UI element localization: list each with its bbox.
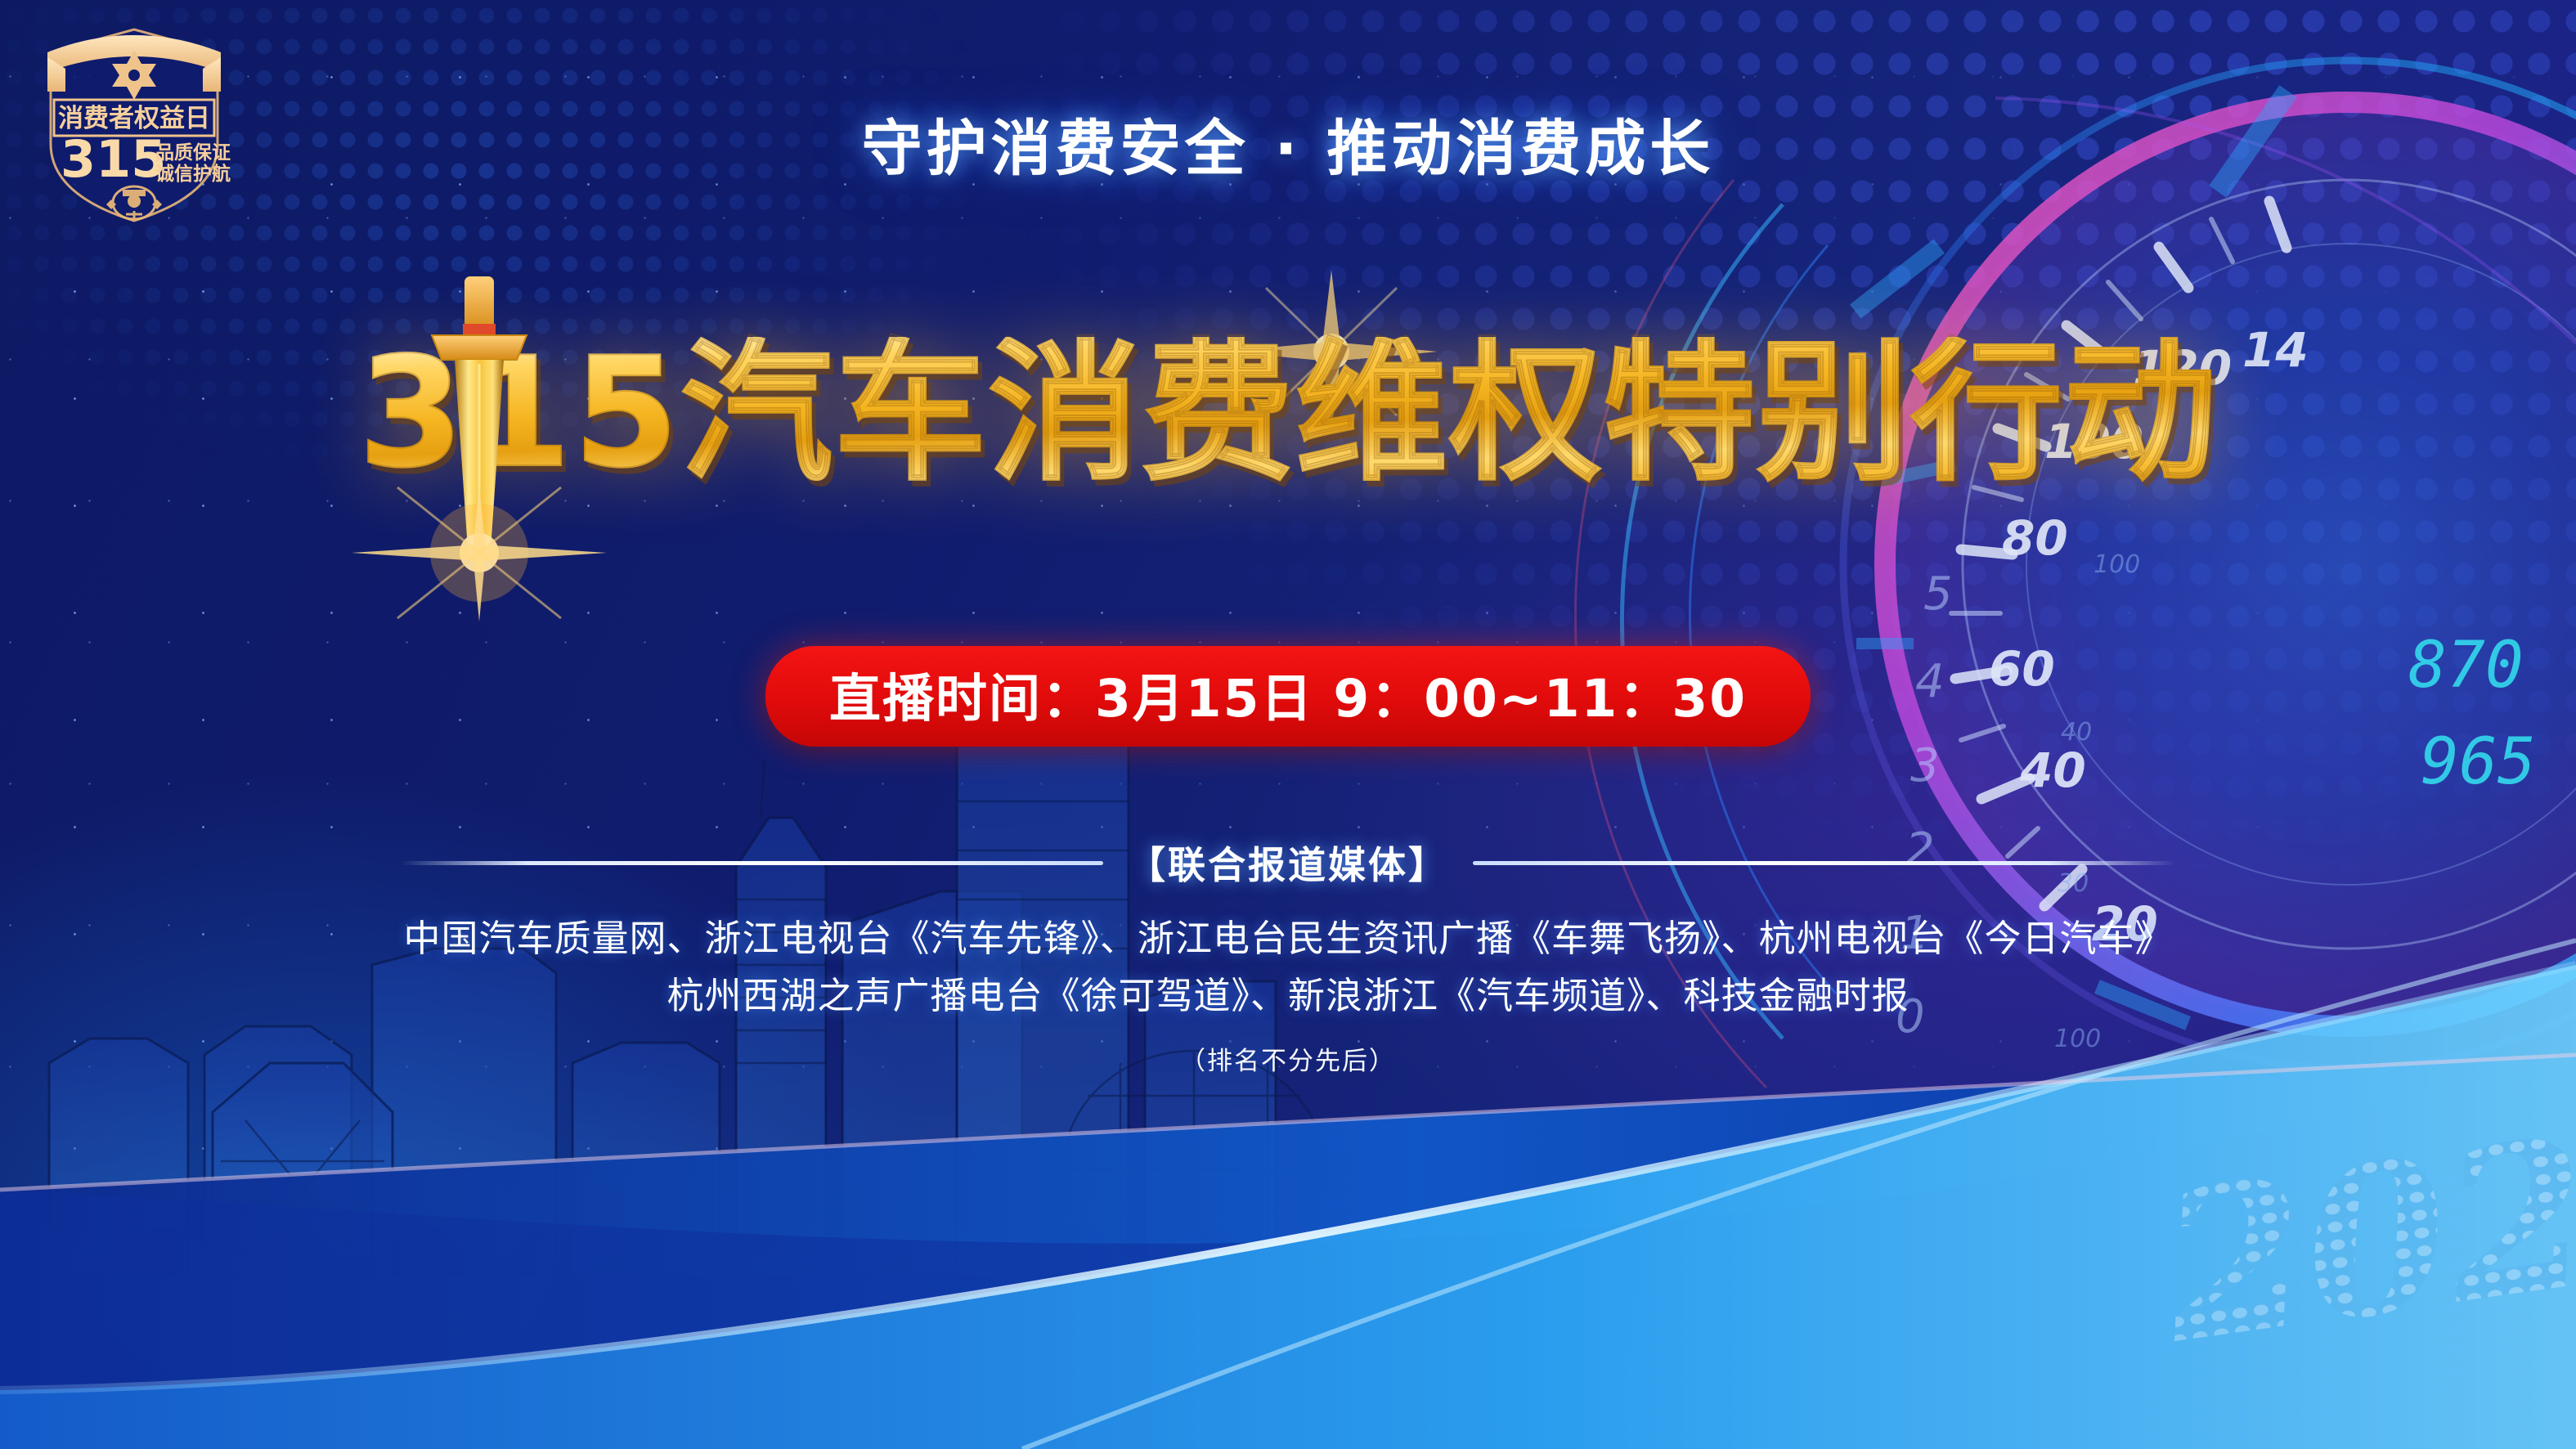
media-heading-row: 【联合报道媒体】	[0, 836, 2576, 890]
media-list-line-2: 杭州西湖之声广播电台《徐可驾道》、新浪浙江《汽车频道》、科技金融时报	[0, 970, 2576, 1022]
poster-subtitle: 守护消费安全 · 推动消费成长	[0, 100, 2576, 187]
live-time-text: 直播时间：3月15日 9：00~11：30	[829, 669, 1747, 729]
divider-left	[400, 861, 1103, 865]
media-partners-block: 【联合报道媒体】 中国汽车质量网、浙江电视台《汽车先锋》、浙江电台民生资讯广播《…	[0, 836, 2576, 1077]
divider-right	[1473, 861, 2176, 865]
page-title: 315汽车消费维权特别行动	[358, 337, 2218, 489]
poster-canvas: 20 40 60 80 100 120 14 870 965 5 4 3 2 1…	[0, 0, 2576, 1449]
live-time-banner[interactable]: 直播时间：3月15日 9：00~11：30	[765, 646, 1811, 747]
media-order-note: （排名不分先后）	[0, 1040, 2576, 1077]
main-title-area: 315汽车消费维权特别行动	[0, 337, 2576, 541]
media-heading: 【联合报道媒体】	[1128, 836, 1448, 890]
media-list-line-1: 中国汽车质量网、浙江电视台《汽车先锋》、浙江电台民生资讯广播《车舞飞扬》、杭州电…	[0, 913, 2576, 965]
